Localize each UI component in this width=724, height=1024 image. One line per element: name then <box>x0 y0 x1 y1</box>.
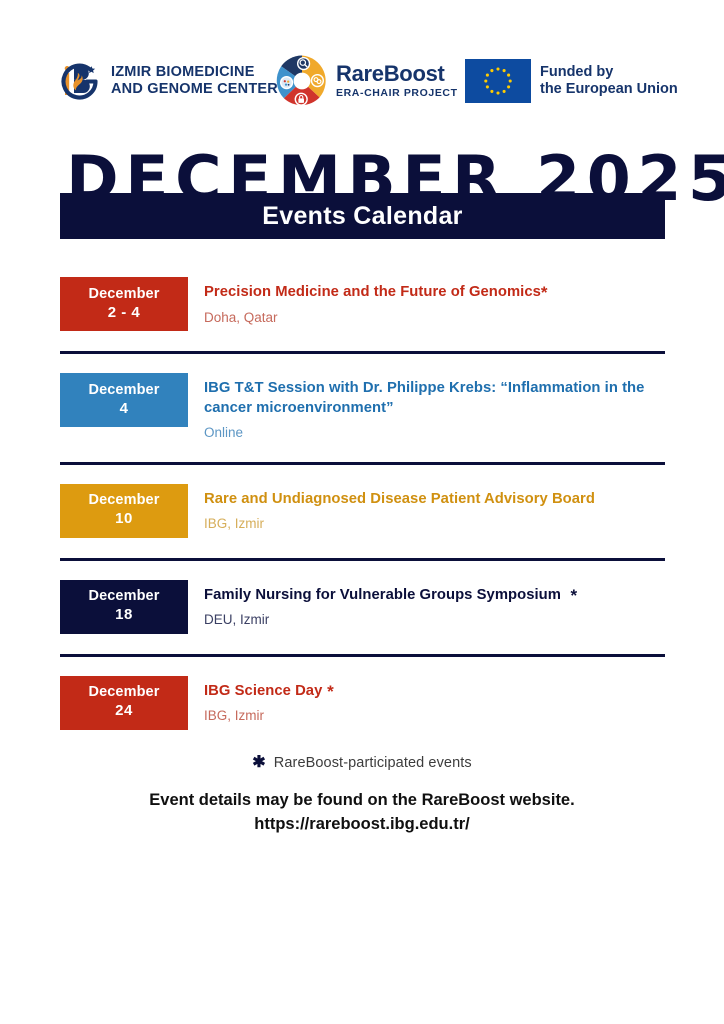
event-title: IBG T&T Session with Dr. Philippe Krebs:… <box>204 380 644 416</box>
date-month: December <box>89 285 160 303</box>
event-body: Precision Medicine and the Future of Gen… <box>204 277 665 326</box>
page-subtitle: Events Calendar <box>262 202 462 231</box>
footer: ✱RareBoost-participated events Event det… <box>0 752 724 837</box>
rareboost-star-icon: * <box>541 283 548 302</box>
eu-funding-logo: Funded by the European Union <box>465 54 678 108</box>
eu-flag-icon <box>465 59 531 103</box>
spacer <box>60 538 665 558</box>
event-body: Family Nursing for Vulnerable Groups Sym… <box>204 580 665 629</box>
rareboost-star-icon: * <box>561 586 577 605</box>
calendar-header: DECEMBER 2025 Events Calendar <box>60 148 665 239</box>
event-location: IBG, Izmir <box>204 707 665 725</box>
date-month: December <box>89 491 160 509</box>
rareboost-subtitle: ERA-CHAIR PROJECT <box>336 87 458 99</box>
date-day: 24 <box>115 701 133 721</box>
list-item[interactable]: December 2 - 4 Precision Medicine and th… <box>60 277 665 331</box>
spacer <box>60 634 665 654</box>
legend-text: RareBoost-participated events <box>274 755 472 771</box>
date-badge: December 4 <box>60 373 188 427</box>
spacer <box>60 657 665 676</box>
date-month: December <box>89 381 160 399</box>
date-badge: December 10 <box>60 484 188 538</box>
date-day: 10 <box>115 509 133 529</box>
ibg-monogram-icon <box>55 57 103 105</box>
rareboost-logo: RareBoost ERA-CHAIR PROJECT <box>275 52 458 110</box>
event-title: Rare and Undiagnosed Disease Patient Adv… <box>204 491 595 507</box>
legend: ✱RareBoost-participated events <box>0 752 724 772</box>
event-location: Online <box>204 424 665 442</box>
event-location: DEU, Izmir <box>204 611 665 629</box>
date-day: 2 - 4 <box>108 303 141 323</box>
eu-funding-text: Funded by the European Union <box>540 64 678 99</box>
event-location: IBG, Izmir <box>204 515 665 533</box>
spacer <box>60 354 665 373</box>
event-title: Family Nursing for Vulnerable Groups Sym… <box>204 587 561 603</box>
subtitle-bar: Events Calendar <box>60 193 665 239</box>
footer-url[interactable]: https://rareboost.ibg.edu.tr/ <box>0 813 724 837</box>
legend-star-icon: ✱ <box>252 754 266 771</box>
rareboost-circle-icon <box>275 54 329 108</box>
event-title: Precision Medicine and the Future of Gen… <box>204 284 541 300</box>
list-item[interactable]: December 24 IBG Science Day * IBG, Izmir <box>60 676 665 730</box>
list-item[interactable]: December 4 IBG T&T Session with Dr. Phil… <box>60 373 665 442</box>
events-list: December 2 - 4 Precision Medicine and th… <box>60 277 665 730</box>
spacer <box>60 331 665 351</box>
rareboost-star-icon: * <box>322 682 333 701</box>
date-badge: December 2 - 4 <box>60 277 188 331</box>
date-month: December <box>89 683 160 701</box>
date-day: 4 <box>120 399 129 419</box>
list-item[interactable]: December 18 Family Nursing for Vulnerabl… <box>60 580 665 634</box>
logo-bar: IZMIR BIOMEDICINE AND GENOME CENTER <box>0 52 724 114</box>
event-body: Rare and Undiagnosed Disease Patient Adv… <box>204 484 665 533</box>
spacer <box>60 465 665 484</box>
spacer <box>60 561 665 580</box>
footer-note: Event details may be found on the RareBo… <box>0 789 724 813</box>
event-title: IBG Science Day <box>204 683 322 699</box>
event-location: Doha, Qatar <box>204 309 665 327</box>
rareboost-title: RareBoost <box>336 63 458 85</box>
list-item[interactable]: December 10 Rare and Undiagnosed Disease… <box>60 484 665 538</box>
date-day: 18 <box>115 605 133 625</box>
ibg-logo: IZMIR BIOMEDICINE AND GENOME CENTER <box>55 52 278 110</box>
date-badge: December 24 <box>60 676 188 730</box>
ibg-logo-text: IZMIR BIOMEDICINE AND GENOME CENTER <box>111 64 278 98</box>
event-body: IBG T&T Session with Dr. Philippe Krebs:… <box>204 373 665 442</box>
date-badge: December 18 <box>60 580 188 634</box>
date-month: December <box>89 587 160 605</box>
spacer <box>60 442 665 462</box>
event-body: IBG Science Day * IBG, Izmir <box>204 676 665 725</box>
